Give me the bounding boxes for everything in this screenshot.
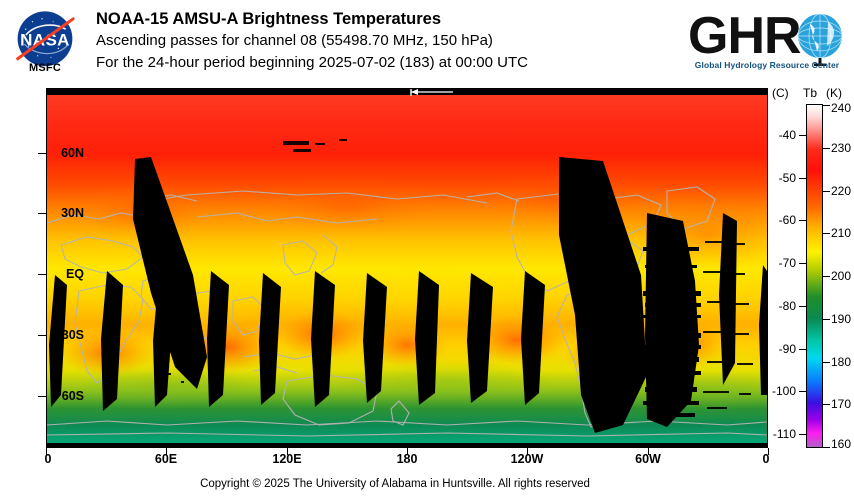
colorbar-gradient[interactable]	[806, 104, 823, 448]
cb-tick-k-160	[823, 447, 830, 448]
cb-label-k-200: 200	[831, 269, 851, 283]
temperature-field	[47, 95, 767, 443]
cb-tick-k-230	[823, 148, 830, 149]
copyright-notice: Copyright © 2025 The University of Alaba…	[0, 478, 790, 490]
cb-tick-c-100	[799, 391, 806, 392]
channel-subtitle: Ascending passes for channel 08 (55498.7…	[96, 30, 696, 52]
cb-tick-k-190	[823, 319, 830, 320]
cb-label-c-80: -80	[760, 299, 796, 313]
map-inner	[47, 89, 767, 447]
cb-tick-k-210	[823, 233, 830, 234]
cb-label-k-170: 170	[831, 397, 851, 411]
page-title: NOAA-15 AMSU-A Brightness Temperatures	[96, 8, 696, 30]
cb-tick-c-40	[799, 135, 806, 136]
y-axis-label-30s: 30S	[24, 328, 84, 342]
cb-label-c-70: -70	[760, 256, 796, 270]
y-axis-label-60n: 60N	[24, 146, 84, 160]
swath-direction-arrow-icon	[407, 88, 455, 96]
ghrc-subtitle: Global Hydrology Resource Center	[686, 60, 848, 70]
period-subtitle: For the 24-hour period beginning 2025-07…	[96, 52, 696, 74]
x-axis-label-120e: 120E	[272, 452, 301, 466]
cb-label-c-110: -110	[760, 427, 796, 441]
svg-text:GHR: GHR	[688, 7, 801, 65]
cb-tick-c-60	[799, 220, 806, 221]
cb-label-c-40: -40	[760, 128, 796, 142]
x-axis-label-360: 0	[763, 452, 770, 466]
cb-label-k-180: 180	[831, 355, 851, 369]
x-axis-label-60e: 60E	[155, 452, 177, 466]
colorbar-title: Tb	[803, 86, 817, 100]
x-axis-label-120w: 120W	[511, 452, 544, 466]
y-axis-label-60s: 60S	[24, 389, 84, 403]
brightness-temperature-map[interactable]	[46, 88, 768, 448]
cb-label-k-190: 190	[831, 312, 851, 326]
x-axis-label-0: 0	[45, 452, 52, 466]
y-axis-label-30n: 30N	[24, 206, 84, 220]
cb-tick-k-240	[823, 105, 830, 106]
cb-tick-c-110	[799, 434, 806, 435]
cb-tick-c-70	[799, 263, 806, 264]
cb-tick-c-90	[799, 349, 806, 350]
colorbar-kelvin-unit: (K)	[826, 86, 842, 100]
ghrc-wordmark-icon: GHR	[686, 6, 848, 66]
colorbar-celsius-unit: (C)	[772, 86, 789, 100]
cb-label-k-220: 220	[831, 184, 851, 198]
cb-label-c-50: -50	[760, 171, 796, 185]
screenshot-root: NASA MSFC NOAA-15 AMSU-A Brightness Temp…	[0, 0, 854, 502]
cb-label-k-210: 210	[831, 226, 851, 240]
x-axis-label-180: 180	[397, 452, 418, 466]
cb-tick-k-220	[823, 191, 830, 192]
x-axis-label-60w: 60W	[635, 452, 661, 466]
cb-label-k-160: 160	[831, 437, 851, 451]
cb-tick-c-80	[799, 306, 806, 307]
cb-tick-k-170	[823, 404, 830, 405]
cb-label-k-240: 240	[831, 101, 851, 115]
cb-label-c-90: -90	[760, 342, 796, 356]
cb-label-k-230: 230	[831, 141, 851, 155]
cb-label-c-60: -60	[760, 213, 796, 227]
y-axis-label-eq: EQ	[24, 267, 84, 281]
cb-tick-c-50	[799, 178, 806, 179]
cb-label-c-100: -100	[760, 384, 796, 398]
cb-tick-k-180	[823, 362, 830, 363]
title-block: NOAA-15 AMSU-A Brightness Temperatures A…	[96, 8, 696, 74]
cb-tick-k-200	[823, 276, 830, 277]
nasa-center-label: MSFC	[8, 62, 82, 74]
